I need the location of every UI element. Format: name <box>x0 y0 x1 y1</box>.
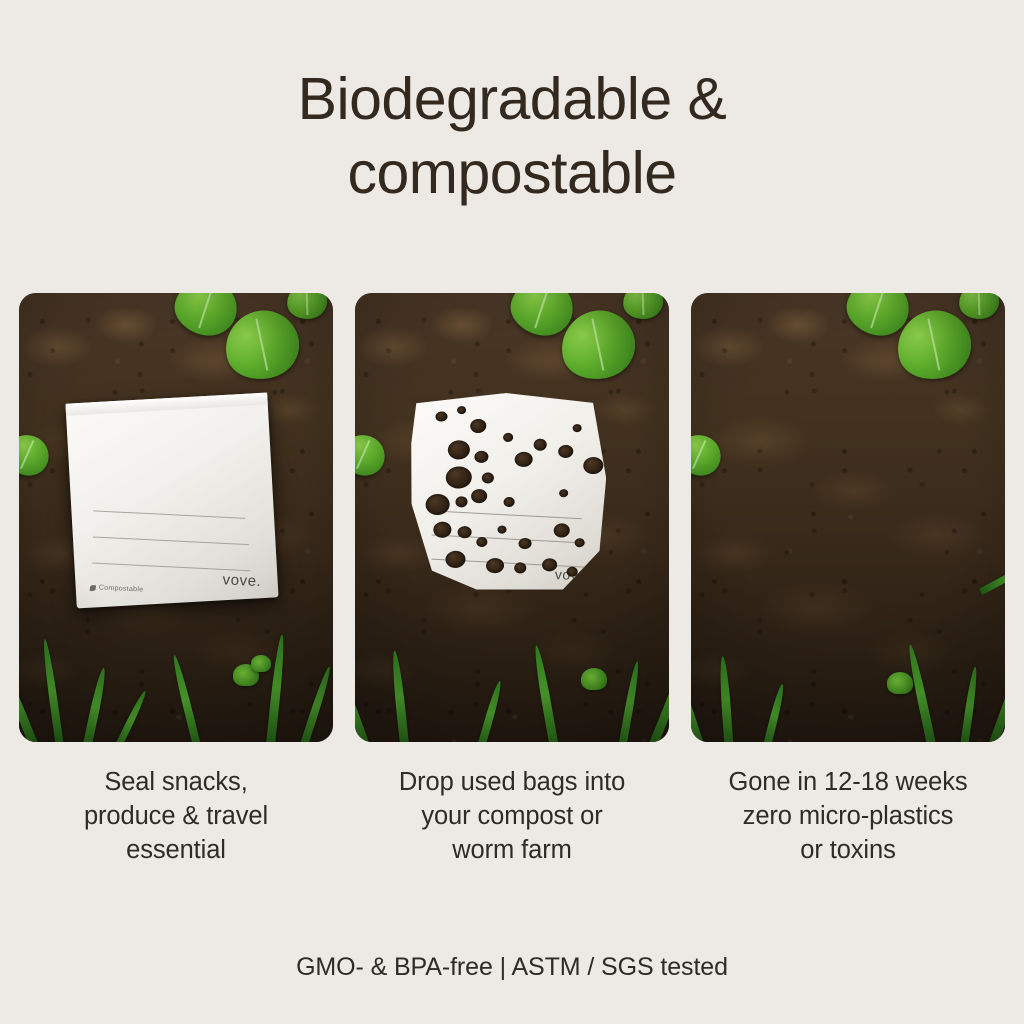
caption-line-3: worm farm <box>355 833 669 867</box>
caption-line-3: or toxins <box>691 833 1005 867</box>
panel-vignette <box>691 293 1005 742</box>
page-title-line-1: Biodegradable & <box>0 62 1024 136</box>
infographic-root: Biodegradable & compostable Compostable … <box>0 0 1024 1024</box>
panel-vignette <box>355 293 669 742</box>
page-title-line-2: compostable <box>0 136 1024 210</box>
certification-footer: GMO- & BPA-free | ASTM / SGS tested <box>0 953 1024 982</box>
caption-line-2: your compost or <box>355 799 669 833</box>
caption-line-1: Drop used bags into <box>355 765 669 799</box>
caption-intact-bag: Seal snacks, produce & travel essential <box>19 765 333 875</box>
panel-fully-composted <box>691 293 1005 742</box>
caption-decomposing-bag: Drop used bags into your compost or worm… <box>355 765 669 875</box>
panel-decomposing-bag: vove. <box>355 293 669 742</box>
page-title: Biodegradable & compostable <box>0 62 1024 210</box>
caption-line-1: Seal snacks, <box>19 765 333 799</box>
caption-row: Seal snacks, produce & travel essential … <box>19 765 1005 875</box>
caption-fully-composted: Gone in 12-18 weeks zero micro-plastics … <box>691 765 1005 875</box>
panel-vignette <box>19 293 333 742</box>
caption-line-3: essential <box>19 833 333 867</box>
panel-row: Compostable vove. <box>19 293 1005 742</box>
panel-intact-bag: Compostable vove. <box>19 293 333 742</box>
caption-line-2: produce & travel <box>19 799 333 833</box>
caption-line-2: zero micro-plastics <box>691 799 1005 833</box>
caption-line-1: Gone in 12-18 weeks <box>691 765 1005 799</box>
